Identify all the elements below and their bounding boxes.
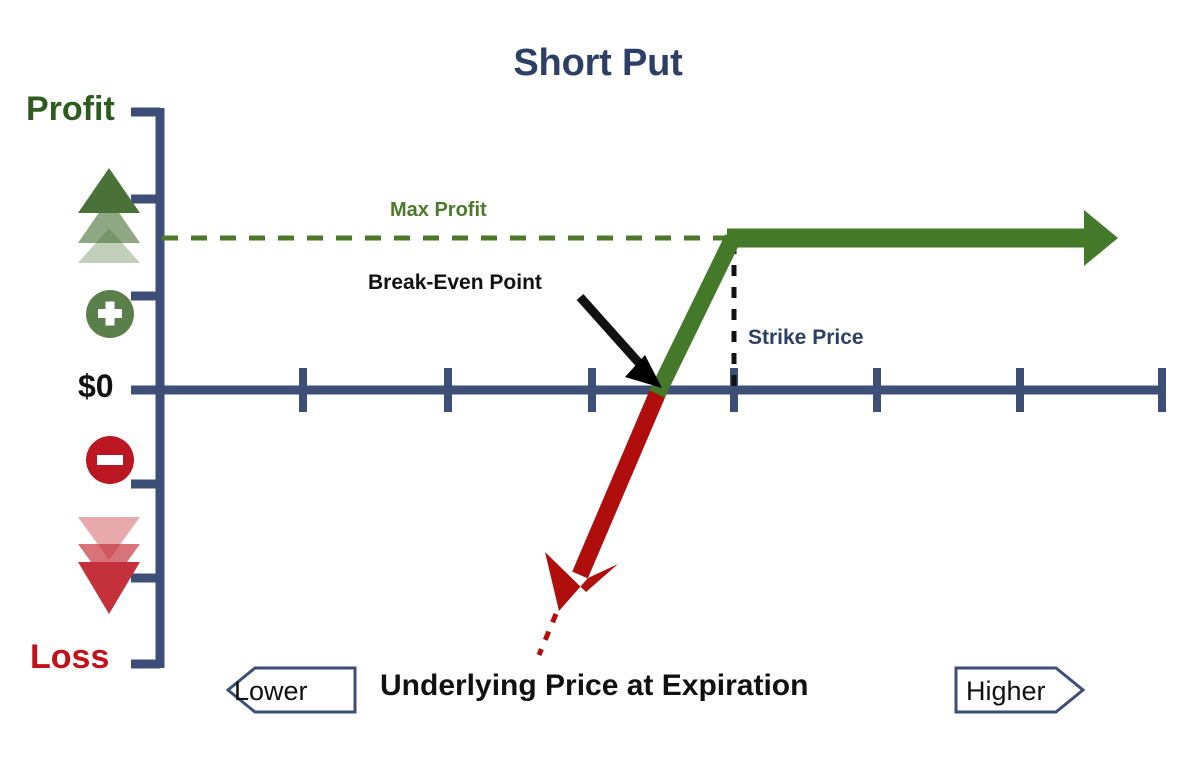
y-axis-profit-label: Profit: [26, 92, 115, 126]
y-axis-loss-label: Loss: [30, 640, 109, 674]
short-put-payoff-diagram: Short Put Profit Loss $0 Max Profit Brea…: [0, 0, 1196, 764]
break-even-point-label: Break-Even Point: [368, 272, 542, 293]
minus-circle-icon: [86, 436, 134, 484]
triangle-up-stack-icon: [78, 168, 140, 263]
payoff-rising-segment: [657, 238, 733, 394]
diagram-canvas: [0, 0, 1196, 764]
x-axis-lower-label: Lower: [234, 676, 308, 707]
max-profit-label: Max Profit: [390, 200, 487, 220]
payoff-loss-segment: [580, 390, 659, 575]
page-title: Short Put: [0, 44, 1196, 82]
payoff-right-arrowhead: [1084, 210, 1118, 266]
x-axis-higher-label: Higher: [966, 676, 1046, 707]
x-axis-title: Underlying Price at Expiration: [380, 671, 808, 701]
y-axis-zero-label: $0: [78, 370, 114, 402]
payoff-loss-dashed-extension: [539, 614, 556, 655]
triangle-down-stack-icon: [78, 517, 140, 614]
strike-price-label: Strike Price: [748, 327, 864, 348]
plus-circle-icon: [86, 290, 134, 338]
